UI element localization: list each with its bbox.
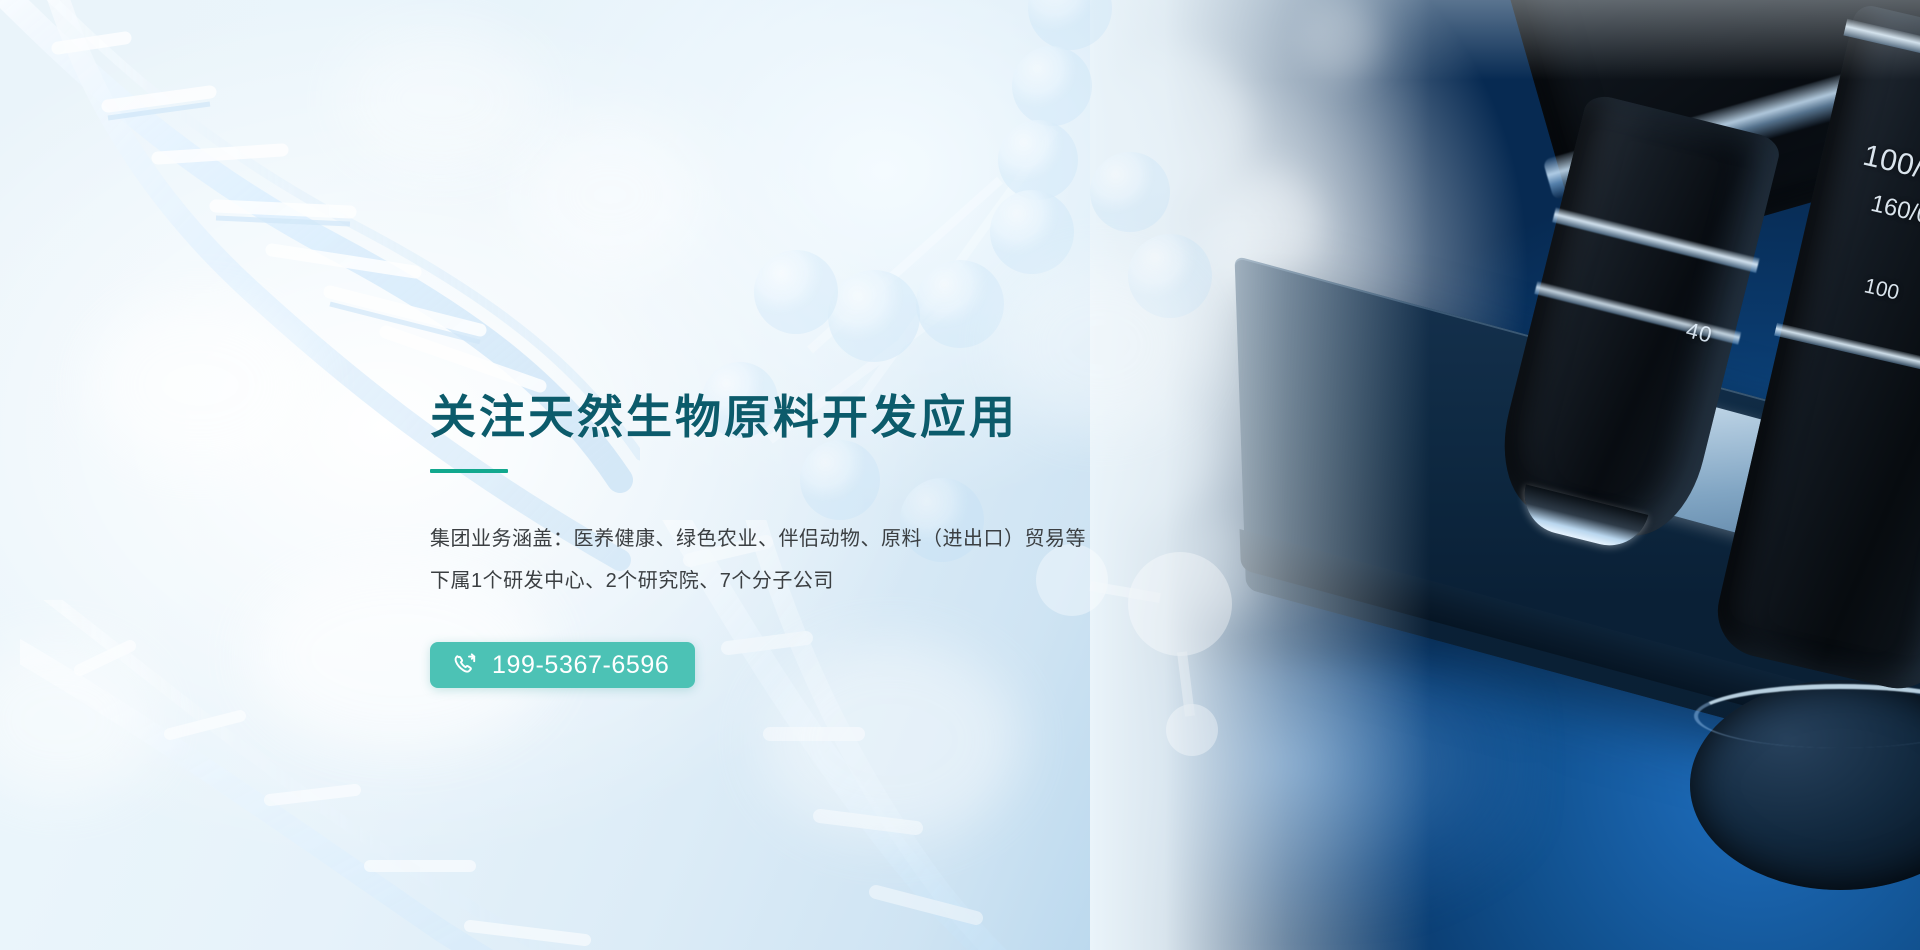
glow-blob xyxy=(340,30,540,170)
phone-number-label: 199-5367-6596 xyxy=(492,653,669,678)
hero-banner: 40 100/1.25 160/0.17 100 xyxy=(0,0,1920,950)
glow-blob xyxy=(520,120,700,270)
phone-cta-button[interactable]: 199-5367-6596 xyxy=(430,642,695,688)
phone-forward-icon xyxy=(452,652,478,678)
glow-blob xyxy=(90,300,310,470)
page-title: 关注天然生物原料开发应用 xyxy=(430,390,1190,445)
description-line-2: 下属1个研发中心、2个研究院、7个分子公司 xyxy=(430,560,1190,602)
hero-description: 集团业务涵盖：医养健康、绿色农业、伴侣动物、原料（进出口）贸易等 下属1个研发中… xyxy=(430,518,1190,602)
title-underline-rule xyxy=(430,469,508,473)
description-line-1: 集团业务涵盖：医养健康、绿色农业、伴侣动物、原料（进出口）贸易等 xyxy=(430,518,1190,560)
hero-content: 关注天然生物原料开发应用 集团业务涵盖：医养健康、绿色农业、伴侣动物、原料（进出… xyxy=(430,390,1190,688)
